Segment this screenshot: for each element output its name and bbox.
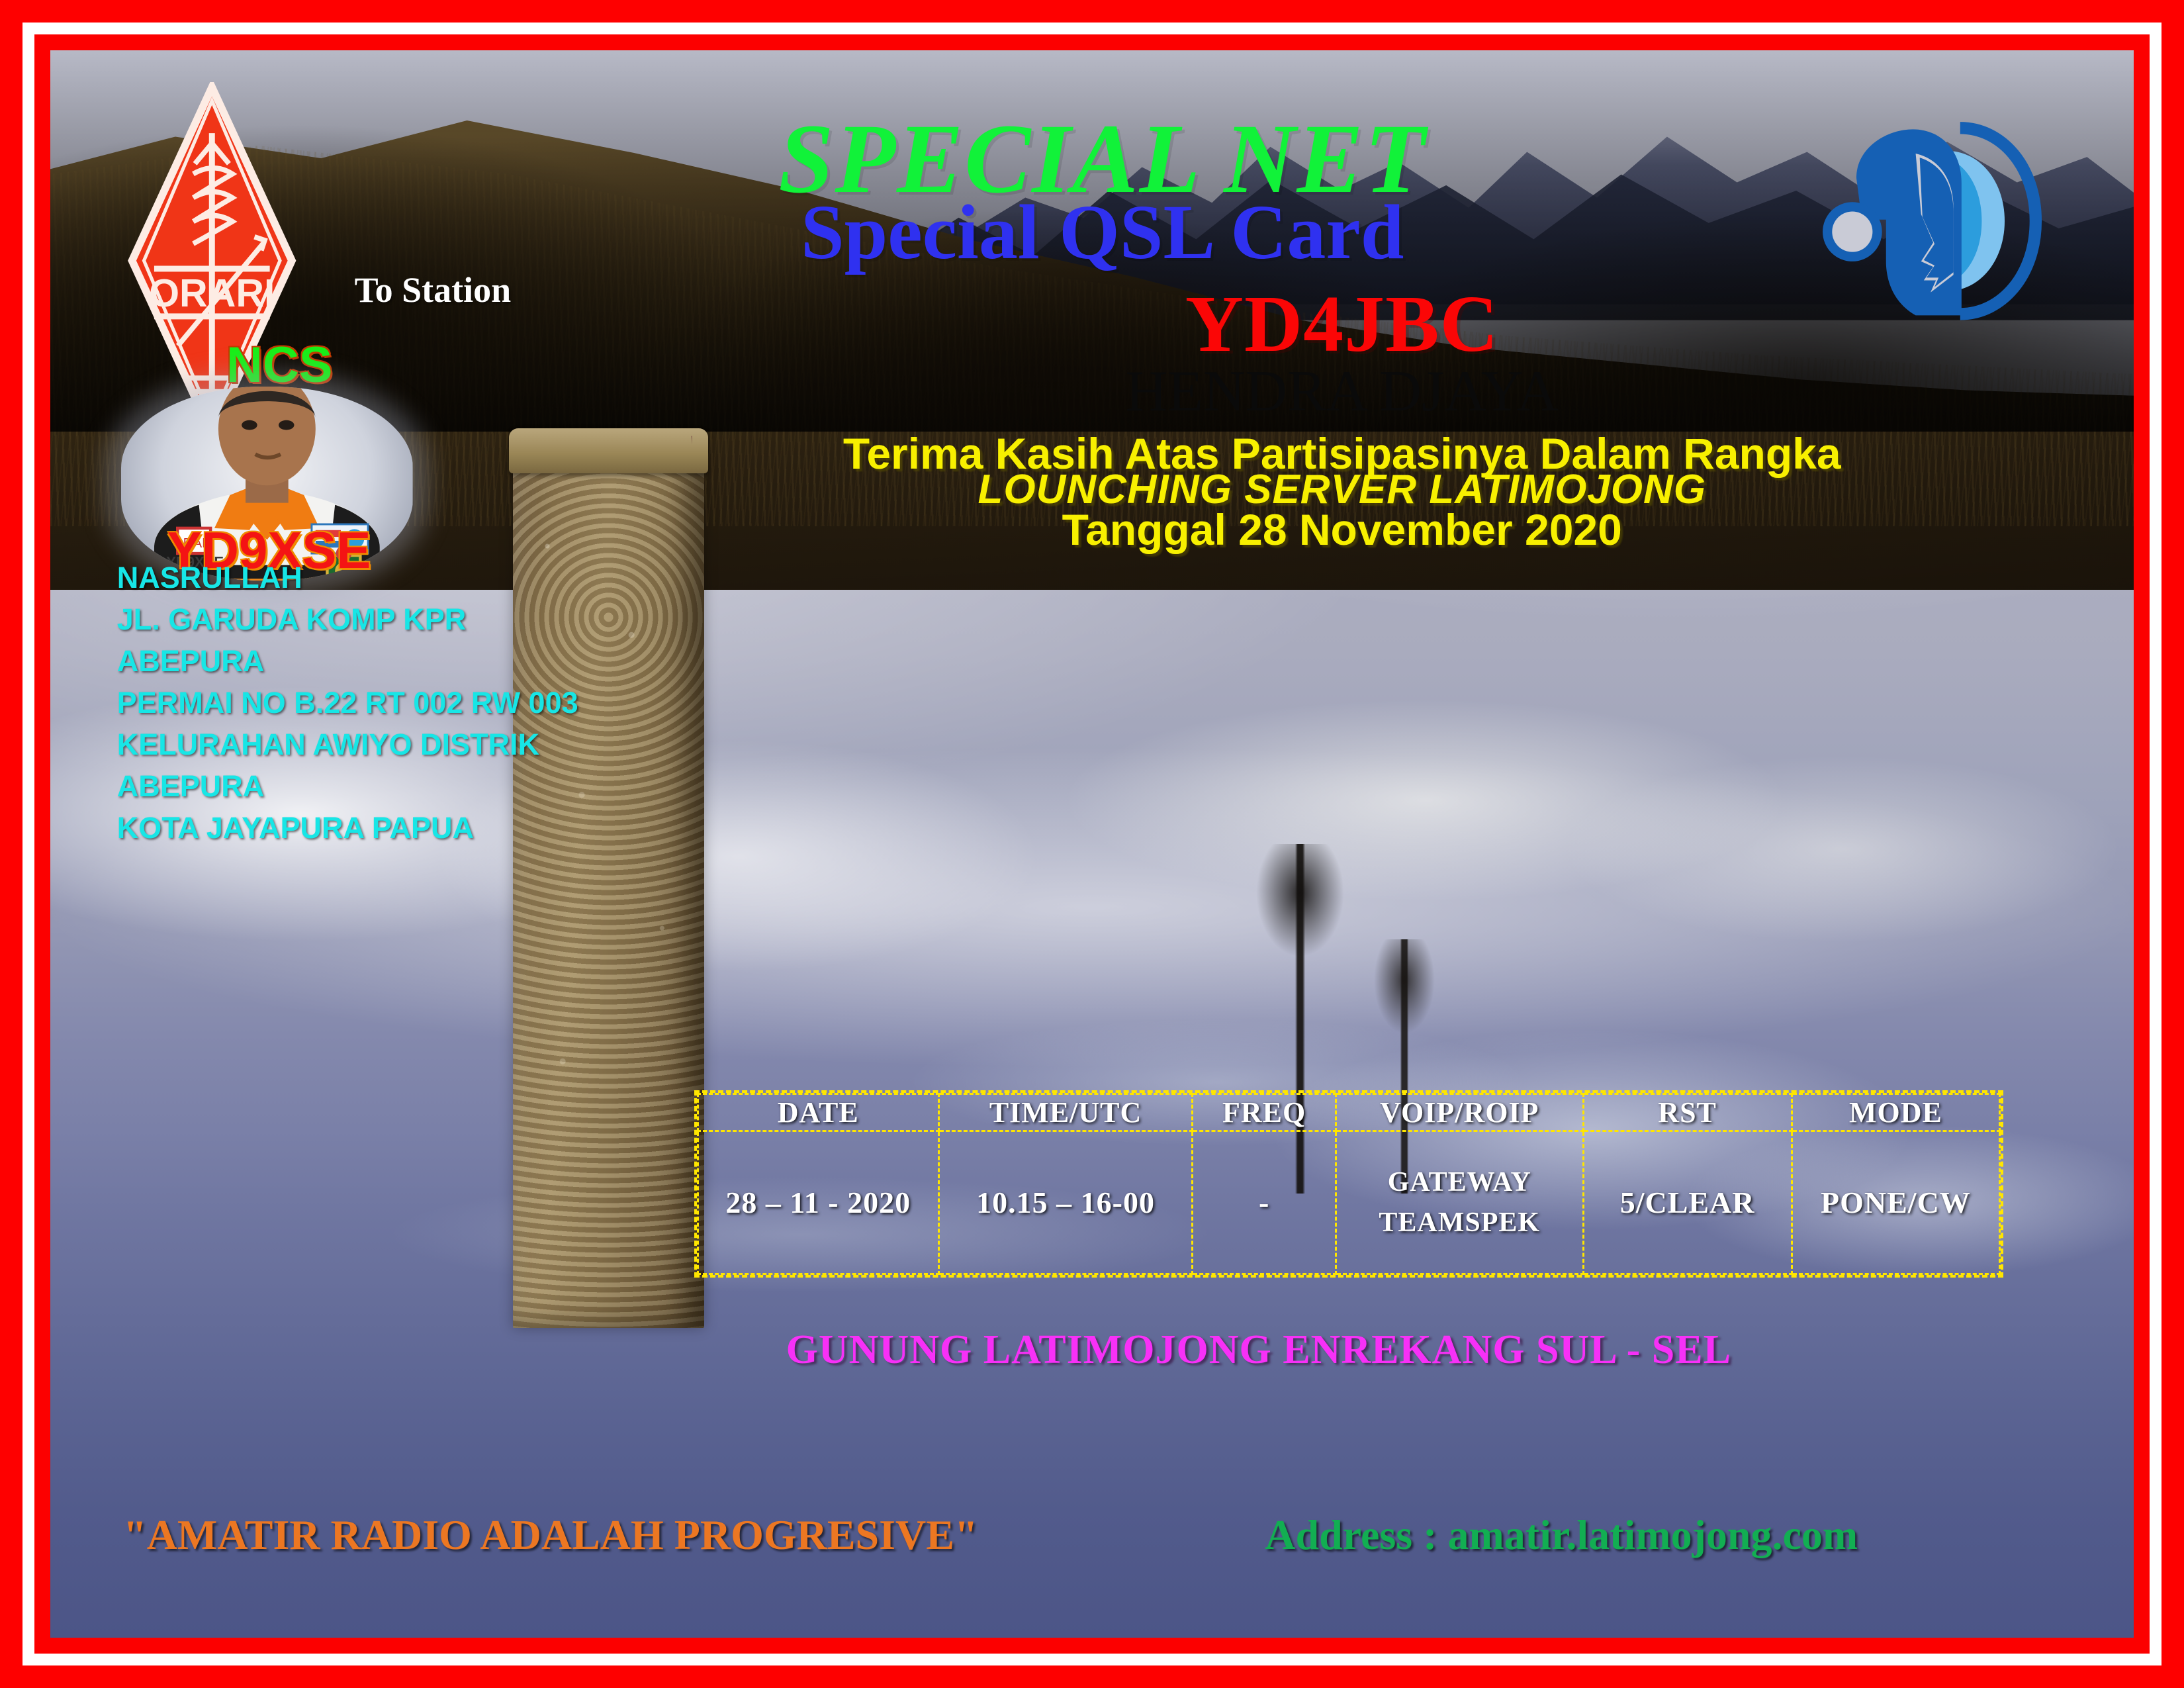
address-line: ABEPURA — [117, 640, 721, 682]
card-photo-background: ORARI — [50, 50, 2134, 1638]
qso-log-table: DATE TIME/UTC FREQ VOIP/ROIP RST MODE 28… — [694, 1090, 2004, 1278]
web-address-text: Address : amatir.latimojong.com — [1265, 1511, 1858, 1560]
address-line: KELURAHAN AWIYO DISTRIK — [117, 724, 721, 765]
address-line: PERMAI NO B.22 RT 002 RW 003 — [117, 682, 721, 724]
motto-text: "AMATIR RADIO ADALAH PROGRESIVE" — [123, 1511, 978, 1560]
address-block: NASRULLAH JL. GARUDA KOMP KPR ABEPURA PE… — [117, 557, 721, 849]
column-header-date: DATE — [698, 1094, 938, 1131]
address-line: NASRULLAH — [117, 557, 721, 598]
ncs-label: NCS — [154, 336, 404, 394]
address-line: ABEPURA — [117, 765, 721, 807]
thanks-line-3: Tanggal 28 November 2020 — [738, 504, 1946, 555]
cell-rst: 5/CLEAR — [1583, 1131, 1792, 1274]
cell-time: 10.15 – 16-00 — [938, 1131, 1193, 1274]
column-header-voip: VOIP/ROIP — [1336, 1094, 1583, 1131]
table-header-row: DATE TIME/UTC FREQ VOIP/ROIP RST MODE — [698, 1094, 2000, 1131]
cell-mode: PONE/CW — [1792, 1131, 2000, 1274]
cell-voip-line2: TEAMSPEK — [1338, 1203, 1582, 1243]
cell-voip-line1: GATEWAY — [1338, 1162, 1582, 1203]
cell-freq: - — [1193, 1131, 1336, 1274]
qsl-card: ORARI — [0, 0, 2184, 1688]
page-subtitle: Special QSL Card — [477, 193, 1727, 271]
address-line: KOTA JAYAPURA PAPUA — [117, 807, 721, 849]
cell-voip: GATEWAY TEAMSPEK — [1336, 1131, 1583, 1274]
cell-date: 28 – 11 - 2020 — [698, 1131, 938, 1274]
card-white-gap: ORARI — [23, 23, 2161, 1665]
station-callsign: YD4JBC — [925, 284, 1758, 365]
location-line: GUNUNG LATIMOJONG ENREKANG SUL - SEL — [675, 1327, 1842, 1374]
column-header-time: TIME/UTC — [938, 1094, 1193, 1131]
column-header-freq: FREQ — [1193, 1094, 1336, 1131]
column-header-mode: MODE — [1792, 1094, 2000, 1131]
to-station-label: To Station — [355, 269, 512, 310]
orari-logo-text: ORARI — [149, 271, 275, 315]
column-header-rst: RST — [1583, 1094, 1792, 1131]
address-line: JL. GARUDA KOMP KPR — [117, 598, 721, 640]
headset-face-logo — [1821, 82, 2050, 360]
card-inner-red-border: ORARI — [34, 34, 2150, 1654]
operator-name: HENDRA DJAYA — [925, 363, 1758, 421]
table-row: 28 – 11 - 2020 10.15 – 16-00 - GATEWAY T… — [698, 1131, 2000, 1274]
